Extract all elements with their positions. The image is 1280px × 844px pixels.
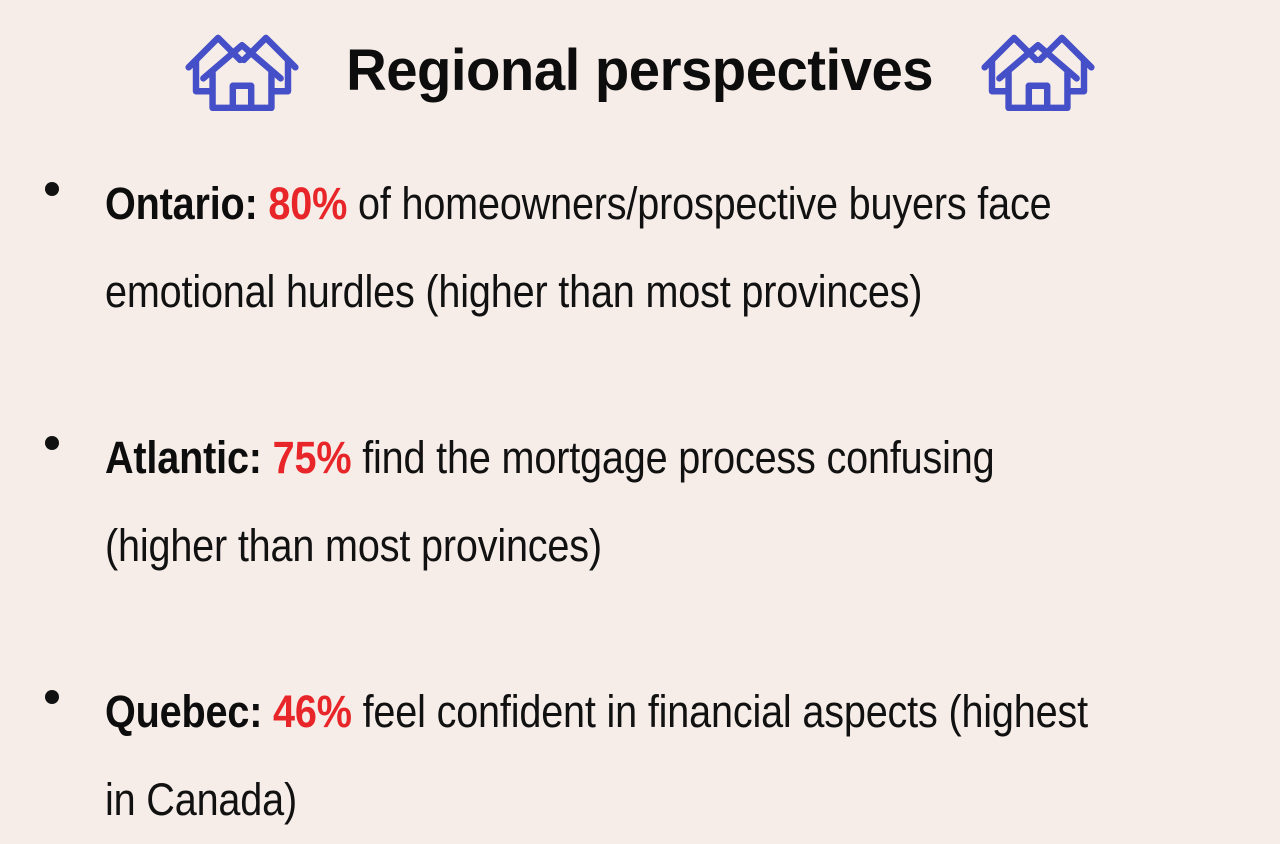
list-item: Quebec: 46% feel confident in financial … [0, 668, 1280, 844]
region-label: Atlantic: [105, 432, 262, 483]
stat-value: 46% [273, 686, 352, 737]
bullet-marker-icon [45, 690, 59, 704]
list-item-text: Ontario: 80% of homeowners/prospective b… [105, 160, 1117, 336]
list-item: Ontario: 80% of homeowners/prospective b… [0, 160, 1280, 336]
page-title: Regional perspectives [346, 42, 933, 100]
bullet-list: Ontario: 80% of homeowners/prospective b… [0, 160, 1280, 844]
houses-icon [979, 25, 1097, 117]
bullet-marker-icon [45, 436, 59, 450]
slide-header: Regional perspectives [0, 18, 1280, 124]
bullet-marker-icon [45, 182, 59, 196]
region-label: Ontario: [105, 178, 258, 229]
houses-icon [183, 25, 301, 117]
region-label: Quebec: [105, 686, 262, 737]
slide-root: Regional perspectives Ontario: 80% of ho… [0, 0, 1280, 821]
stat-value: 75% [273, 432, 352, 483]
list-item-text: Quebec: 46% feel confident in financial … [105, 668, 1117, 844]
list-item-text: Atlantic: 75% find the mortgage process … [105, 414, 1117, 590]
list-item: Atlantic: 75% find the mortgage process … [0, 414, 1280, 590]
stat-value: 80% [268, 178, 347, 229]
